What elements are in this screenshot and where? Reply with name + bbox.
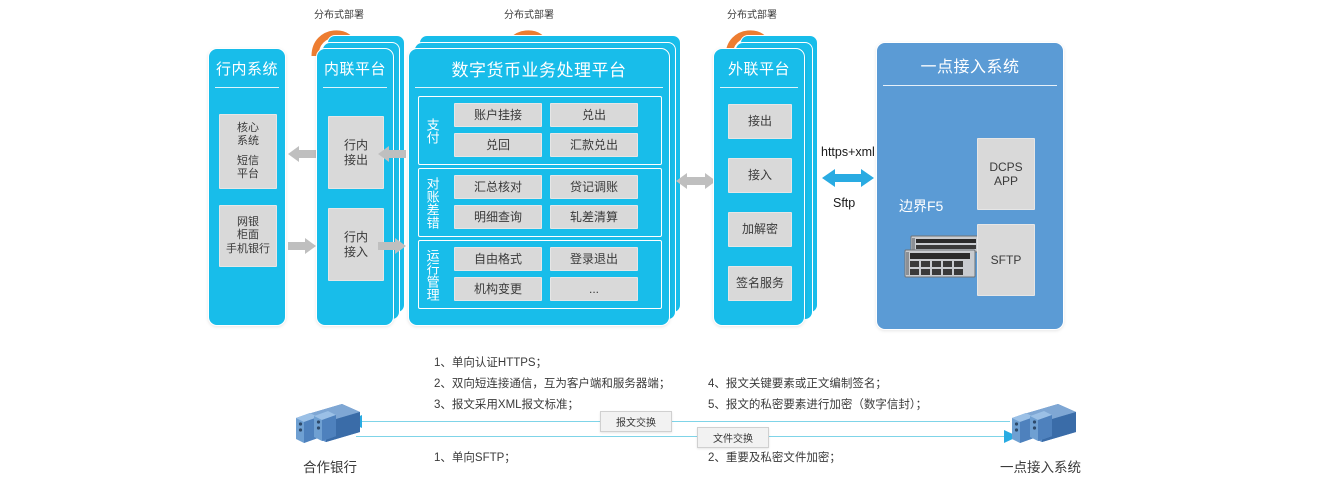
chip-exchange-back[interactable]: 兑回: [454, 133, 542, 157]
chip-line: 短信: [237, 155, 259, 168]
label-box-message-exchange: 报文交换: [600, 411, 672, 432]
flowline-file-exchange: [356, 436, 1006, 437]
chip-login-logout[interactable]: 登录退出: [550, 247, 638, 271]
flowline-message-exchange: [358, 421, 1010, 422]
label-border-f5: 边界F5: [899, 196, 943, 216]
chip-line: APP: [994, 174, 1018, 188]
group-name-payment: 支付: [419, 97, 445, 164]
chip-netting-settlement[interactable]: 轧差清算: [550, 205, 638, 229]
arrow-external-to-access-bidirectional: [822, 168, 874, 188]
distributed-label-external: 分布式部署: [727, 6, 777, 21]
chip-more[interactable]: ...: [550, 277, 638, 301]
chip-line: 核心: [237, 122, 259, 135]
group-name-reconciliation: 对账差错: [419, 169, 445, 236]
arrow-dcep-external-bidirectional: [676, 173, 716, 189]
arrow-intranet-to-bank: [288, 146, 316, 162]
panel-title-dcep-platform: 数字货币业务处理平台: [409, 49, 669, 88]
caption-single-access-system: 一点接入系统: [1000, 456, 1081, 476]
chip-encrypt-decrypt[interactable]: 加解密: [728, 212, 792, 247]
chip-remittance-out[interactable]: 汇款兑出: [550, 133, 638, 157]
panel-title-single-access-system: 一点接入系统: [877, 43, 1063, 86]
group-name-operations: 运行管理: [419, 241, 445, 308]
chip-external-out[interactable]: 接出: [728, 104, 792, 139]
chip-line: 平台: [237, 168, 259, 181]
chip-summary-check[interactable]: 汇总核对: [454, 175, 542, 199]
chip-free-format[interactable]: 自由格式: [454, 247, 542, 271]
chip-intranet-in[interactable]: 行内 接入: [328, 208, 384, 281]
chip-line: 接出: [344, 153, 368, 167]
note-msg-5: 5、报文的私密要素进行加密（数字信封）；: [708, 396, 927, 412]
note-msg-2: 2、双向短连接通信，互为客户端和服务器端；: [434, 375, 670, 391]
chip-signature-service[interactable]: 签名服务: [728, 266, 792, 301]
chip-core-system[interactable]: 核心 系统 短信 平台: [219, 114, 277, 189]
chip-line: 柜面: [237, 229, 259, 242]
arrow-intranet-to-dcep: [378, 238, 406, 254]
server-icon-single-access: [1008, 400, 1078, 450]
panel-external-platform: 外联平台 接出 接入 加解密 签名服务: [713, 48, 805, 326]
chip-line: 网银: [237, 216, 259, 229]
note-file-2: 2、重要及私密文件加密；: [708, 449, 841, 465]
chip-line: 行内: [344, 230, 368, 244]
arrow-dcep-to-intranet: [378, 146, 406, 162]
chip-exchange-out[interactable]: 兑出: [550, 103, 638, 127]
chip-line: 行内: [344, 138, 368, 152]
f5-switch-icon: [903, 234, 985, 282]
chip-external-in[interactable]: 接入: [728, 158, 792, 193]
panel-dcep-platform: 数字货币业务处理平台 支付 账户挂接 兑出 兑回 汇款兑出 对账差错 汇总核对 …: [408, 48, 670, 326]
chip-intranet-out[interactable]: 行内 接出: [328, 116, 384, 189]
note-file-1: 1、单向SFTP；: [434, 449, 516, 465]
chip-dcps-app[interactable]: DCPS APP: [977, 138, 1035, 210]
chip-line: 手机银行: [226, 243, 270, 256]
arrow-bank-to-intranet: [288, 238, 316, 254]
chip-account-link[interactable]: 账户挂接: [454, 103, 542, 127]
chip-sftp[interactable]: SFTP: [977, 224, 1035, 296]
distributed-label-dcep: 分布式部署: [504, 6, 554, 21]
chip-line: 接入: [344, 245, 368, 259]
note-msg-3: 3、报文采用XML报文标准；: [434, 396, 579, 412]
panel-intranet-platform: 内联平台 行内 接出 行内 接入: [316, 48, 394, 326]
note-msg-1: 1、单向认证HTTPS；: [434, 354, 547, 370]
panel-title-external-platform: 外联平台: [714, 49, 804, 88]
chip-line: DCPS: [989, 160, 1022, 174]
caption-partner-bank: 合作银行: [303, 456, 357, 476]
protocol-label-sftp: Sftp: [833, 196, 855, 210]
panel-title-intranet-platform: 内联平台: [317, 49, 393, 88]
panel-title-bank-internal: 行内系统: [209, 49, 285, 88]
architecture-diagram: 分布式部署 分布式部署 分布式部署 行内系统 核心 系统 短信 平台 网银 柜面…: [0, 0, 1333, 483]
group-payment: 支付 账户挂接 兑出 兑回 汇款兑出: [418, 96, 662, 165]
panel-bank-internal: 行内系统 核心 系统 短信 平台 网银 柜面 手机银行: [208, 48, 286, 326]
chip-detail-query[interactable]: 明细查询: [454, 205, 542, 229]
chip-ebank-counter-mobile[interactable]: 网银 柜面 手机银行: [219, 205, 277, 267]
chip-org-change[interactable]: 机构变更: [454, 277, 542, 301]
server-icon-partner-bank: [292, 400, 362, 450]
group-operations: 运行管理 自由格式 登录退出 机构变更 ...: [418, 240, 662, 309]
protocol-label-https-xml: https+xml: [821, 145, 875, 159]
label-box-file-exchange: 文件交换: [697, 427, 769, 448]
chip-credit-adjust[interactable]: 贷记调账: [550, 175, 638, 199]
chip-line: 系统: [237, 135, 259, 148]
note-msg-4: 4、报文关键要素或正文编制签名；: [708, 375, 887, 391]
panel-single-access-system: 一点接入系统 边界F5: [876, 42, 1064, 330]
distributed-label-intranet: 分布式部署: [314, 6, 364, 21]
group-reconciliation: 对账差错 汇总核对 贷记调账 明细查询 轧差清算: [418, 168, 662, 237]
